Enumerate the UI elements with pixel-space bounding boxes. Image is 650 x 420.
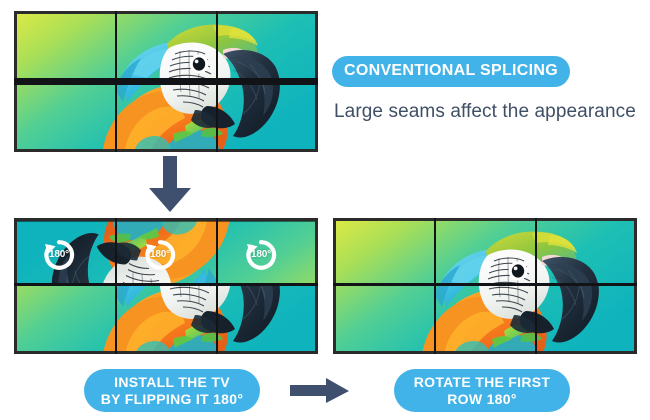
badge-rotate-first-row: ROTATE THE FIRST ROW 180° [394,369,570,412]
badge-rotate-first-row-line2: ROW 180° [447,391,516,407]
parrot-artwork [17,14,116,82]
parrot-artwork [116,82,215,150]
wall-tile [17,82,116,150]
wall-tile [17,286,116,351]
wall-tile [336,286,435,351]
badge-conventional-splicing-label: CONVENTIONAL SPLICING [344,62,558,80]
parrot-artwork [116,286,215,351]
parrot-artwork [336,286,435,351]
wall-tile [216,82,315,150]
wall-tile [336,221,435,286]
parrot-artwork [216,82,315,150]
parrot-artwork [17,286,116,351]
wall-tile [116,82,215,150]
video-wall-flipped-first-row: 180° 180° 180° [14,218,318,354]
parrot-artwork [116,14,215,82]
wall-tile [216,286,315,351]
arrow-right-icon [290,378,350,404]
badge-install-tv: INSTALL THE TV BY FLIPPING IT 180° [84,369,260,412]
video-wall-conventional [14,11,318,152]
parrot-artwork [17,82,116,150]
badge-install-tv-line1: INSTALL THE TV [114,374,230,390]
wall-tile [116,14,215,82]
parrot-artwork [535,286,634,351]
wall-tile [435,286,534,351]
caption-large-seams-text: Large seams affect the appearance [334,101,636,122]
wall-tile [535,221,634,286]
rotate-180-label: 180° [244,249,278,260]
parrot-artwork [336,221,435,286]
parrot-artwork [435,286,534,351]
rotate-180-label: 180° [42,249,76,260]
arrow-down-icon [148,156,192,213]
rotate-180-label: 180° [143,249,177,260]
wall-tile [535,286,634,351]
badge-install-tv-line2: BY FLIPPING IT 180° [101,391,244,407]
wall-tile [435,221,534,286]
rotate-180-icon: 180° [244,238,278,272]
parrot-artwork [435,221,534,286]
wall-tile [216,14,315,82]
badge-conventional-splicing: CONVENTIONAL SPLICING [332,56,570,87]
wall-tile [17,14,116,82]
wall-tile [116,286,215,351]
parrot-artwork [535,221,634,286]
caption-large-seams: Large seams affect the appearance [334,101,636,123]
parrot-artwork [216,14,315,82]
rotate-180-icon: 180° [42,238,76,272]
video-wall-result [333,218,637,354]
rotate-180-icon: 180° [143,238,177,272]
badge-rotate-first-row-line1: ROTATE THE FIRST [414,374,551,390]
parrot-artwork [216,286,315,351]
